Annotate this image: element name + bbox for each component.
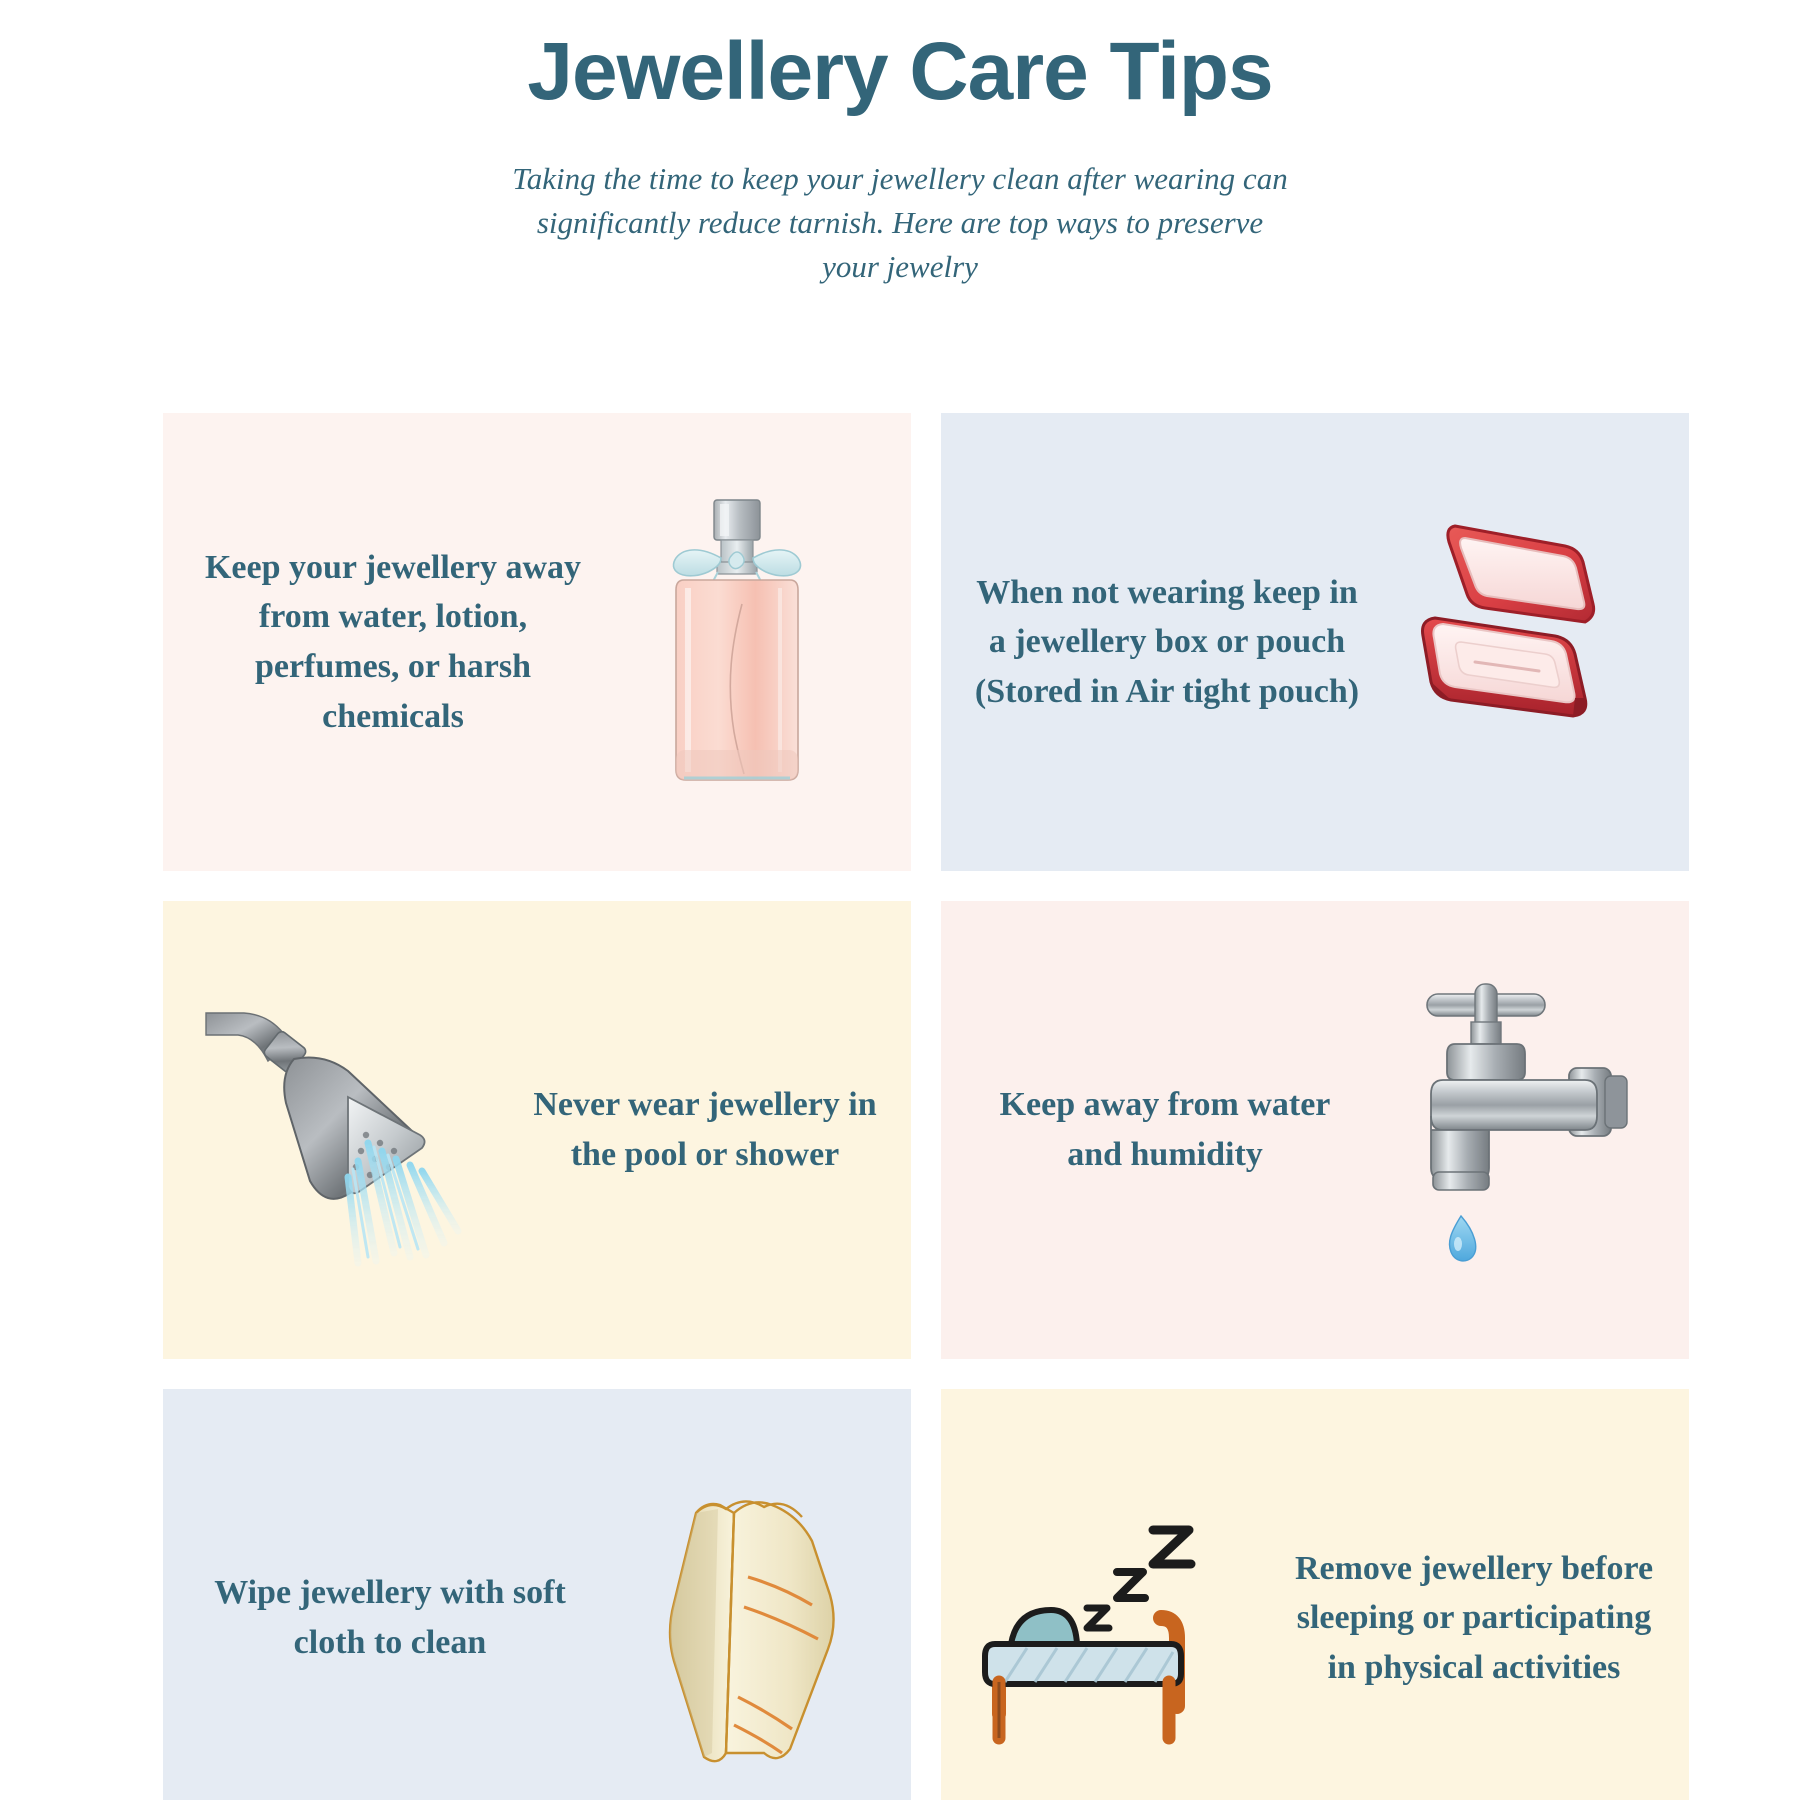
shower-head-icon <box>163 985 523 1275</box>
infographic-page: Jewellery Care Tips Taking the time to k… <box>0 0 1800 1800</box>
page-title: Jewellery Care Tips <box>0 28 1800 117</box>
tip-card-5-text: Wipe jewellery with soft cloth to clean <box>163 1568 583 1667</box>
tip-card-2: When not wearing keep in a jewellery box… <box>941 413 1689 871</box>
tip-card-4-text: Keep away from water and humidity <box>941 1080 1337 1179</box>
tip-card-2-text: When not wearing keep in a jewellery box… <box>941 568 1361 717</box>
tip-card-5: Wipe jewellery with soft cloth to clean <box>163 1389 911 1800</box>
faucet-icon <box>1337 980 1689 1280</box>
header: Jewellery Care Tips Taking the time to k… <box>0 0 1800 289</box>
bed-sleeping-icon <box>941 1468 1289 1768</box>
tip-card-4: Keep away from water and humidity <box>941 901 1689 1359</box>
jewellery-box-icon <box>1361 512 1657 772</box>
tip-card-1: Keep your jewellery away from water, lot… <box>163 413 911 871</box>
tip-card-3-text: Never wear jewellery in the pool or show… <box>523 1080 911 1179</box>
tips-grid: Keep your jewellery away from water, lot… <box>163 413 1655 1800</box>
tip-card-6-text: Remove jewellery before sleeping or part… <box>1289 1544 1689 1693</box>
tip-card-6: Remove jewellery before sleeping or part… <box>941 1389 1689 1800</box>
polishing-cloth-icon <box>583 1453 911 1783</box>
tip-card-1-text: Keep your jewellery away from water, lot… <box>163 543 593 742</box>
page-subtitle: Taking the time to keep your jewellery c… <box>505 157 1295 289</box>
perfume-bottle-icon <box>593 492 881 792</box>
tip-card-3: Never wear jewellery in the pool or show… <box>163 901 911 1359</box>
